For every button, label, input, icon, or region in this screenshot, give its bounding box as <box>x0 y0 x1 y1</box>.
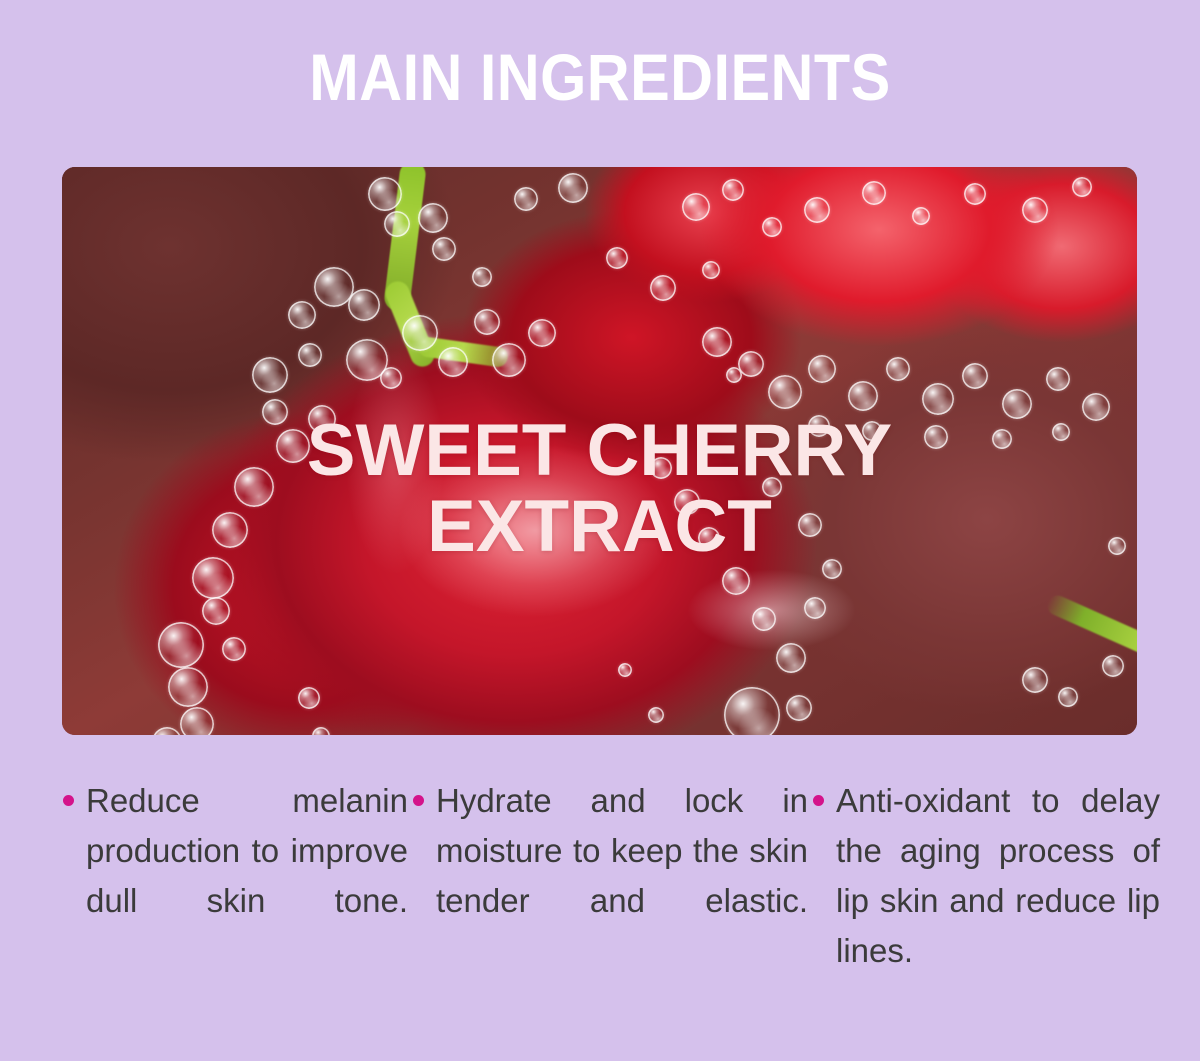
bubble-icon <box>472 267 492 287</box>
bubble-icon <box>312 727 330 735</box>
bubble-icon <box>202 597 230 625</box>
benefit-item-2: Hydrate and lock in moisture to keep the… <box>408 776 808 1026</box>
bubble-icon <box>848 381 878 411</box>
bubble-icon <box>776 643 806 673</box>
bubble-icon <box>1072 177 1092 197</box>
bubble-icon <box>726 367 742 383</box>
bullet-dot-icon <box>63 795 74 806</box>
bubble-icon <box>762 217 782 237</box>
bubble-icon <box>804 197 830 223</box>
bubble-icon <box>962 363 988 389</box>
bubble-icon <box>348 289 380 321</box>
bubble-icon <box>432 237 456 261</box>
bubble-icon <box>606 247 628 269</box>
bubble-icon <box>702 261 720 279</box>
bubble-icon <box>862 181 886 205</box>
bubble-icon <box>722 567 750 595</box>
bubble-icon <box>528 319 556 347</box>
bubble-icon <box>492 343 526 377</box>
bubble-icon <box>168 667 208 707</box>
bubble-icon <box>752 607 776 631</box>
bubble-icon <box>922 383 954 415</box>
bullet-dot-icon <box>813 795 824 806</box>
bubble-icon <box>384 211 410 237</box>
bubble-icon <box>648 707 664 723</box>
bubble-icon <box>152 727 182 735</box>
bubble-icon <box>1102 655 1124 677</box>
bubble-icon <box>650 275 676 301</box>
benefit-text: Hydrate and lock in moisture to keep the… <box>436 776 808 976</box>
bubble-icon <box>298 343 322 367</box>
benefit-text: Reduce melanin production to improve dul… <box>86 776 408 976</box>
bubble-icon <box>1058 687 1078 707</box>
bubble-icon <box>804 597 826 619</box>
bubble-icon <box>514 187 538 211</box>
bubble-icon <box>288 301 316 329</box>
benefit-item-1: Reduce melanin production to improve dul… <box>58 776 408 1026</box>
cherry-stem-right-icon <box>1044 592 1137 671</box>
bubble-icon <box>558 173 588 203</box>
bubble-icon <box>886 357 910 381</box>
bubble-icon <box>724 687 780 735</box>
bubble-icon <box>402 315 438 351</box>
bubble-icon <box>964 183 986 205</box>
bubble-icon <box>702 327 732 357</box>
bullet-dot-icon <box>413 795 424 806</box>
benefit-item-3: Anti-oxidant to delay the aging process … <box>808 776 1160 1026</box>
benefits-list: Reduce melanin production to improve dul… <box>58 776 1160 1026</box>
bubble-icon <box>222 637 246 661</box>
bubble-icon <box>786 695 812 721</box>
hero-caption-line-1: SWEET CHERRY <box>62 413 1137 489</box>
bubble-icon <box>180 707 214 735</box>
bubble-icon <box>474 309 500 335</box>
bubble-icon <box>1046 367 1070 391</box>
bubble-icon <box>418 203 448 233</box>
bubble-icon <box>252 357 288 393</box>
bubble-icon <box>722 179 744 201</box>
bubble-icon <box>380 367 402 389</box>
ingredient-poster: MAIN INGREDIENTS <box>0 0 1200 1061</box>
bubble-icon <box>1022 197 1048 223</box>
bubble-icon <box>768 375 802 409</box>
bubble-icon <box>298 687 320 709</box>
bubble-icon <box>912 207 930 225</box>
benefit-text: Anti-oxidant to delay the aging process … <box>836 776 1160 1026</box>
hero-caption: SWEET CHERRY EXTRACT <box>62 413 1137 565</box>
bubble-icon <box>682 193 710 221</box>
hero-caption-line-2: EXTRACT <box>62 489 1137 565</box>
bubble-icon <box>1022 667 1048 693</box>
page-title: MAIN INGREDIENTS <box>60 44 1140 110</box>
hero-image-card: SWEET CHERRY EXTRACT <box>62 167 1137 735</box>
bubble-icon <box>618 663 632 677</box>
bubble-icon <box>158 622 204 668</box>
bubble-icon <box>808 355 836 383</box>
bubble-icon <box>368 177 402 211</box>
bubble-icon <box>438 347 468 377</box>
